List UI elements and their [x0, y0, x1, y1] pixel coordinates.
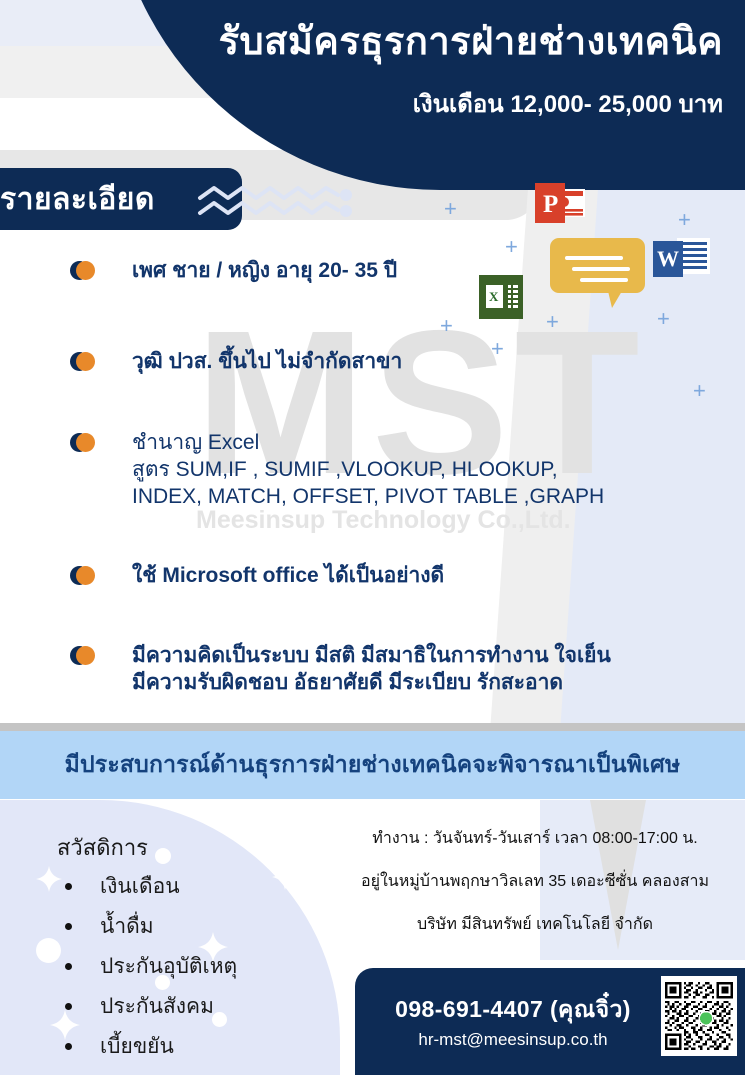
job-poster: MST Meesinsup Technology Co.,Ltd. รับสมั…	[0, 0, 745, 1075]
requirement-item: ชำนาญ Excel สูตร SUM,IF , SUMIF ,VLOOKUP…	[0, 430, 745, 511]
requirement-text: เพศ ชาย / หญิง อายุ 20- 35 ปี	[132, 258, 397, 285]
requirement-item: ใช้ Microsoft office ได้เป็นอย่างดี	[0, 563, 745, 590]
work-schedule: ทำงาน : วันจันทร์-วันเสาร์ เวลา 08:00-17…	[340, 826, 730, 851]
bullet-dual-circle-icon	[70, 430, 104, 456]
benefit-label: ประกันอุบัติเหตุ	[100, 950, 237, 983]
divider-strip	[0, 723, 745, 731]
bullet-dot-icon	[65, 883, 72, 890]
bullet-dot-icon	[65, 1043, 72, 1050]
requirement-text: ชำนาญ Excel สูตร SUM,IF , SUMIF ,VLOOKUP…	[132, 430, 604, 511]
powerpoint-icon: P	[535, 183, 585, 225]
requirement-text: ใช้ Microsoft office ได้เป็นอย่างดี	[132, 563, 444, 590]
benefit-item: เงินเดือน	[57, 866, 237, 906]
page-title: รับสมัครธุรการฝ่ายช่างเทคนิค	[0, 10, 723, 71]
bullet-dual-circle-icon	[70, 349, 104, 375]
contact-phone[interactable]: 098-691-4407 (คุณจิ๋ว)	[368, 992, 658, 1028]
benefits-list: เงินเดือน น้ำดื่ม ประกันอุบัติเหตุ ประกั…	[57, 866, 237, 1066]
requirement-item: เพศ ชาย / หญิง อายุ 20- 35 ปี	[0, 258, 745, 285]
experience-highlight-bar: มีประสบการณ์ด้านธุรการฝ่ายช่างเทคนิคจะพิ…	[0, 731, 745, 799]
qr-code[interactable]	[661, 976, 737, 1056]
work-address: อยู่ในหมู่บ้านพฤกษาวิลเลท 35 เดอะซีซั่น …	[340, 869, 730, 894]
salary-range: เงินเดือน 12,000- 25,000 บาท	[0, 84, 723, 123]
details-tab-label: รายละเอียด	[0, 176, 155, 223]
requirement-text: วุฒิ ปวส. ขึ้นไป ไม่จำกัดสาขา	[132, 349, 402, 376]
benefit-item: น้ำดื่ม	[57, 906, 237, 946]
work-info-block: ทำงาน : วันจันทร์-วันเสาร์ เวลา 08:00-17…	[340, 826, 730, 955]
plus-decoration-icon: +	[678, 209, 691, 231]
benefit-item: เบี้ยขยัน	[57, 1026, 237, 1066]
bullet-dual-circle-icon	[70, 258, 104, 284]
benefits-title: สวัสดิการ	[57, 830, 148, 865]
bullet-dot-icon	[65, 963, 72, 970]
decorative-dot	[155, 848, 171, 864]
bullet-dual-circle-icon	[70, 563, 104, 589]
requirement-text: มีความคิดเป็นระบบ มีสติ มีสมาธิในการทำงา…	[132, 643, 611, 697]
bullet-dual-circle-icon	[70, 643, 104, 669]
benefit-item: ประกันอุบัติเหตุ	[57, 946, 237, 986]
bullet-dot-icon	[65, 923, 72, 930]
requirements-list: เพศ ชาย / หญิง อายุ 20- 35 ปี วุฒิ ปวส. …	[0, 252, 745, 697]
contact-email[interactable]: hr-mst@meesinsup.co.th	[368, 1030, 658, 1050]
requirement-item: วุฒิ ปวส. ขึ้นไป ไม่จำกัดสาขา	[0, 349, 745, 376]
bullet-dot-icon	[65, 1003, 72, 1010]
benefit-item: ประกันสังคม	[57, 986, 237, 1026]
powerpoint-letter: P	[543, 191, 558, 218]
benefit-label: ประกันสังคม	[100, 990, 214, 1023]
sparkle-icon	[272, 864, 298, 890]
benefit-label: เบี้ยขยัน	[100, 1030, 174, 1063]
benefit-label: น้ำดื่ม	[100, 910, 154, 943]
requirement-item: มีความคิดเป็นระบบ มีสติ มีสมาธิในการทำงา…	[0, 643, 745, 697]
zigzag-decoration-icon	[196, 182, 356, 224]
experience-highlight-text: มีประสบการณ์ด้านธุรการฝ่ายช่างเทคนิคจะพิ…	[65, 747, 681, 783]
plus-decoration-icon: +	[444, 198, 457, 220]
benefit-label: เงินเดือน	[100, 870, 180, 903]
company-name: บริษัท มีสินทรัพย์ เทคโนโลยี จำกัด	[340, 912, 730, 937]
